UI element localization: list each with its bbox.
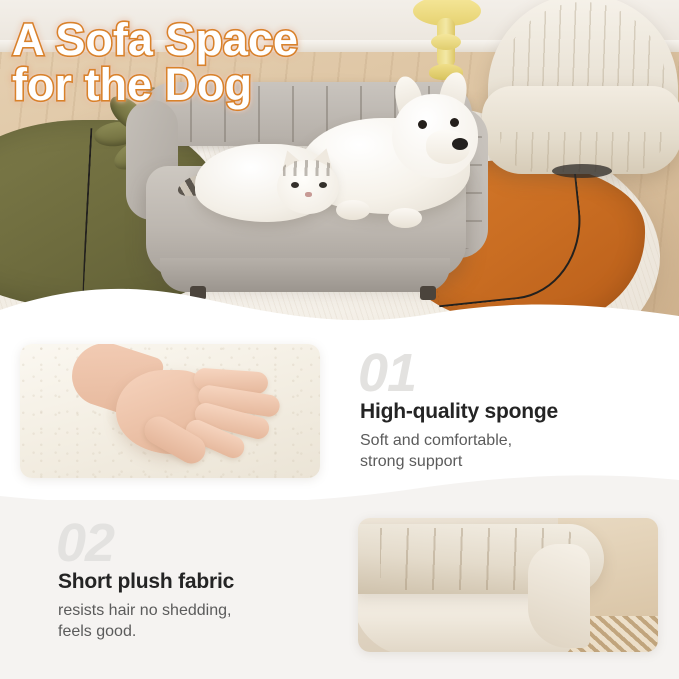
product-marketing-image: A Sofa Space for the Dog 01 High-quality… — [0, 0, 679, 679]
cat-nose — [305, 192, 312, 197]
feature-section-02: 02 Short plush fabric resists hair no sh… — [0, 500, 679, 679]
dog-paw — [388, 208, 422, 228]
headline-line-2: for the Dog — [12, 59, 252, 110]
plush-armrest — [528, 544, 590, 648]
hero-headline: A Sofa Space for the Dog — [0, 0, 679, 130]
white-cat — [195, 130, 365, 240]
feature-title-01: High-quality sponge — [360, 400, 558, 424]
hand-pressing-foam-photo — [20, 344, 320, 478]
sofa-leg — [420, 286, 436, 300]
cat-eye — [291, 182, 299, 188]
armchair-base — [552, 164, 612, 178]
cat-eye — [319, 182, 327, 188]
headline-line-1: A Sofa Space — [12, 14, 298, 65]
feature-description-02: resists hair no shedding, feels good. — [58, 600, 231, 642]
feature-number-02: 02 — [56, 516, 114, 570]
dog-nose — [452, 138, 468, 150]
plush-sofa-closeup-photo — [358, 518, 658, 652]
hand-illustration — [72, 352, 282, 476]
sofa-leg — [190, 286, 206, 300]
hero-section: A Sofa Space for the Dog — [0, 0, 679, 340]
feature-title-02: Short plush fabric — [58, 570, 234, 594]
feature-section-01: 01 High-quality sponge Soft and comforta… — [0, 330, 679, 515]
feature-description-01: Soft and comfortable, strong support — [360, 430, 512, 472]
cat-head-stripes — [283, 160, 335, 176]
feature-number-01: 01 — [358, 346, 416, 400]
